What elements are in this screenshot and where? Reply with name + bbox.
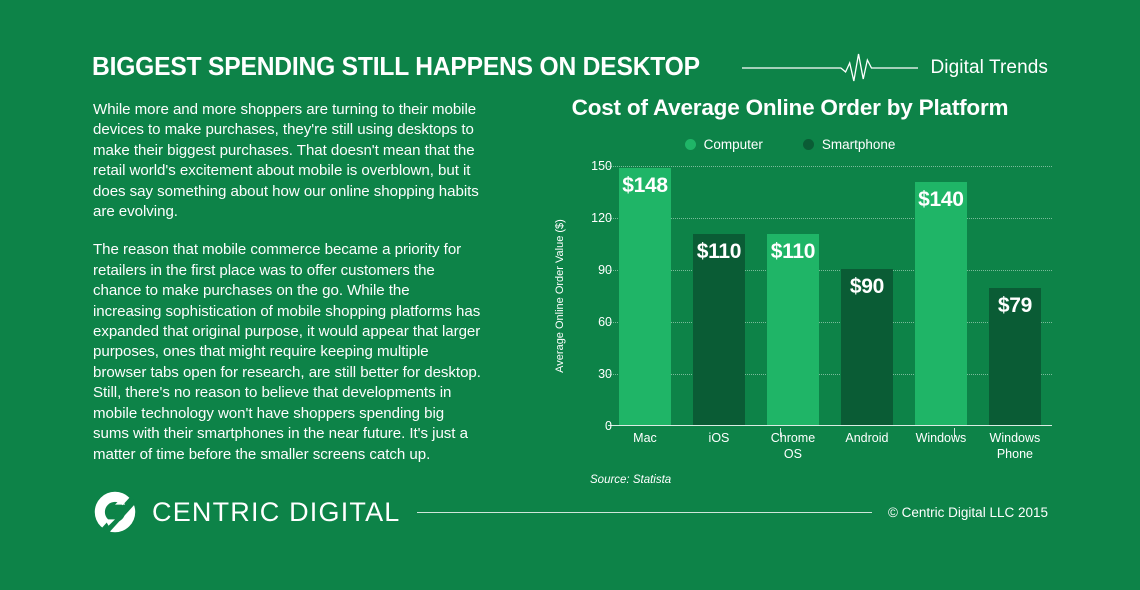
bar-chrome-os[interactable]: $110 [767, 234, 819, 425]
bar-slot: $79 [978, 166, 1052, 425]
footer: CENTRIC DIGITAL © Centric Digital LLC 20… [92, 488, 1048, 536]
logo-wordmark: CENTRIC DIGITAL [152, 497, 401, 528]
group-separator-tick [954, 428, 955, 437]
x-axis-label: ChromeOS [756, 430, 830, 462]
paragraph-1: While more and more shoppers are turning… [93, 100, 481, 222]
x-axis-label-line: Windows [904, 430, 978, 446]
brand-label: Digital Trends [930, 57, 1048, 79]
x-axis-label-line: Mac [608, 430, 682, 446]
x-axis-label-line: Phone [978, 446, 1052, 462]
group-separator-tick [780, 428, 781, 437]
x-axis-label-line: Chrome [756, 430, 830, 446]
bar-value-label: $110 [767, 240, 819, 264]
article-body: While more and more shoppers are turning… [93, 100, 481, 483]
x-axis-label-line: OS [756, 446, 830, 462]
header: BIGGEST SPENDING STILL HAPPENS ON DESKTO… [92, 50, 1048, 86]
bar-android[interactable]: $90 [841, 269, 893, 425]
legend-swatch-smartphone [803, 139, 814, 150]
bar-value-label: $79 [989, 294, 1041, 318]
y-axis-title-text: Average Online Order Value ($) [554, 219, 566, 373]
legend-item-computer: Computer [685, 137, 763, 152]
bar-value-label: $148 [619, 174, 671, 198]
x-axis-label: Mac [608, 430, 682, 462]
chart-title: Cost of Average Online Order by Platform [530, 95, 1050, 121]
bar-group: $148$110$110$90$140$79 [608, 166, 1052, 425]
x-axis-label: iOS [682, 430, 756, 462]
x-axis-label-line: Android [830, 430, 904, 446]
bar-ios[interactable]: $110 [693, 234, 745, 425]
bar-windows[interactable]: $140 [915, 182, 967, 425]
legend-item-smartphone: Smartphone [803, 137, 896, 152]
x-axis-label-line: iOS [682, 430, 756, 446]
page-title: BIGGEST SPENDING STILL HAPPENS ON DESKTO… [92, 55, 700, 81]
bar-value-label: $90 [841, 275, 893, 299]
paragraph-2: The reason that mobile commerce became a… [93, 240, 481, 464]
y-axis-title: Average Online Order Value ($) [552, 166, 568, 426]
x-axis-label: Android [830, 430, 904, 462]
bar-slot: $140 [904, 166, 978, 425]
x-axis-label: WindowsPhone [978, 430, 1052, 462]
bar-slot: $90 [830, 166, 904, 425]
legend-label-computer: Computer [704, 137, 763, 152]
footer-divider [417, 512, 872, 513]
x-axis-labels: MaciOSChromeOSAndroidWindowsWindowsPhone [608, 430, 1052, 462]
legend-label-smartphone: Smartphone [822, 137, 896, 152]
chart: Cost of Average Online Order by Platform… [530, 95, 1050, 466]
centric-digital-logo-icon [92, 489, 138, 535]
plot-area: Average Online Order Value ($) 030609012… [530, 166, 1050, 466]
x-axis-label-line: Windows [978, 430, 1052, 446]
heartbeat-pulse-icon [734, 51, 927, 85]
plot-canvas: $148$110$110$90$140$79 [608, 166, 1052, 426]
bar-slot: $110 [682, 166, 756, 425]
infographic-canvas: BIGGEST SPENDING STILL HAPPENS ON DESKTO… [0, 0, 1140, 590]
bar-slot: $110 [756, 166, 830, 425]
bar-mac[interactable]: $148 [619, 168, 671, 425]
bar-value-label: $110 [693, 240, 745, 264]
legend-swatch-computer [685, 139, 696, 150]
chart-source: Source: Statista [590, 474, 671, 486]
bar-windows-phone[interactable]: $79 [989, 288, 1041, 425]
chart-legend: Computer Smartphone [530, 137, 1050, 152]
x-axis-line [608, 425, 1052, 426]
copyright-text: © Centric Digital LLC 2015 [888, 505, 1048, 520]
x-axis-label: Windows [904, 430, 978, 462]
bar-value-label: $140 [915, 188, 967, 212]
bar-slot: $148 [608, 166, 682, 425]
